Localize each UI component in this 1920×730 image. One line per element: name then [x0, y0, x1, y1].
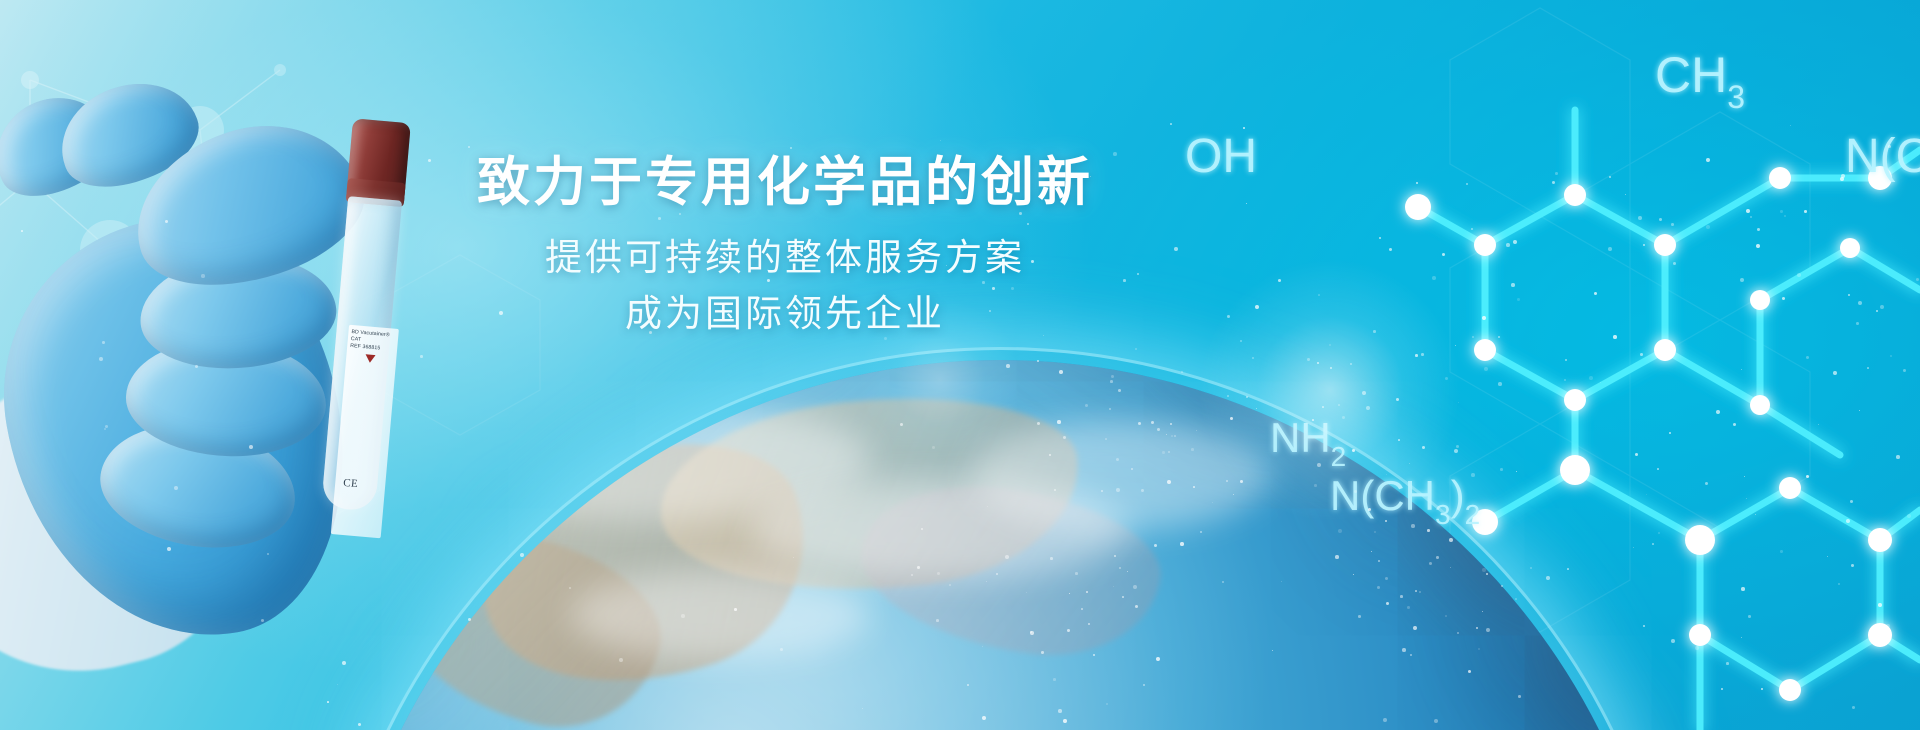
- hero-banner: BD Vacutainer® CAT REF 368815 PLUS PLAST…: [0, 0, 1920, 730]
- banner-subtitle-line1: 提供可持续的整体服务方案: [0, 230, 1570, 286]
- banner-subtitle-line2: 成为国际领先企业: [0, 286, 1570, 342]
- gloved-hand-icon: BD Vacutainer® CAT REF 368815 PLUS PLAST…: [0, 40, 540, 730]
- chem-label-nch3-2: N(CH3)2: [1330, 472, 1480, 530]
- ce-mark-icon: CE: [343, 477, 359, 490]
- chem-label-nch-right: N(CH: [1845, 130, 1920, 183]
- chem-label-ch3: CH3: [1655, 47, 1745, 115]
- tube-fill-arrow-icon: [365, 354, 376, 363]
- banner-headline: 致力于专用化学品的创新: [0, 150, 1570, 216]
- chemical-structure-graphic: CH3 OH N(CH NH2 N(CH3)2: [1140, 0, 1920, 730]
- test-tube-label: BD Vacutainer® CAT REF 368815 PLUS PLAST…: [331, 325, 399, 539]
- chem-label-nh2: NH2: [1270, 414, 1346, 472]
- banner-copy: 致力于专用化学品的创新 提供可持续的整体服务方案 成为国际领先企业: [0, 150, 1570, 342]
